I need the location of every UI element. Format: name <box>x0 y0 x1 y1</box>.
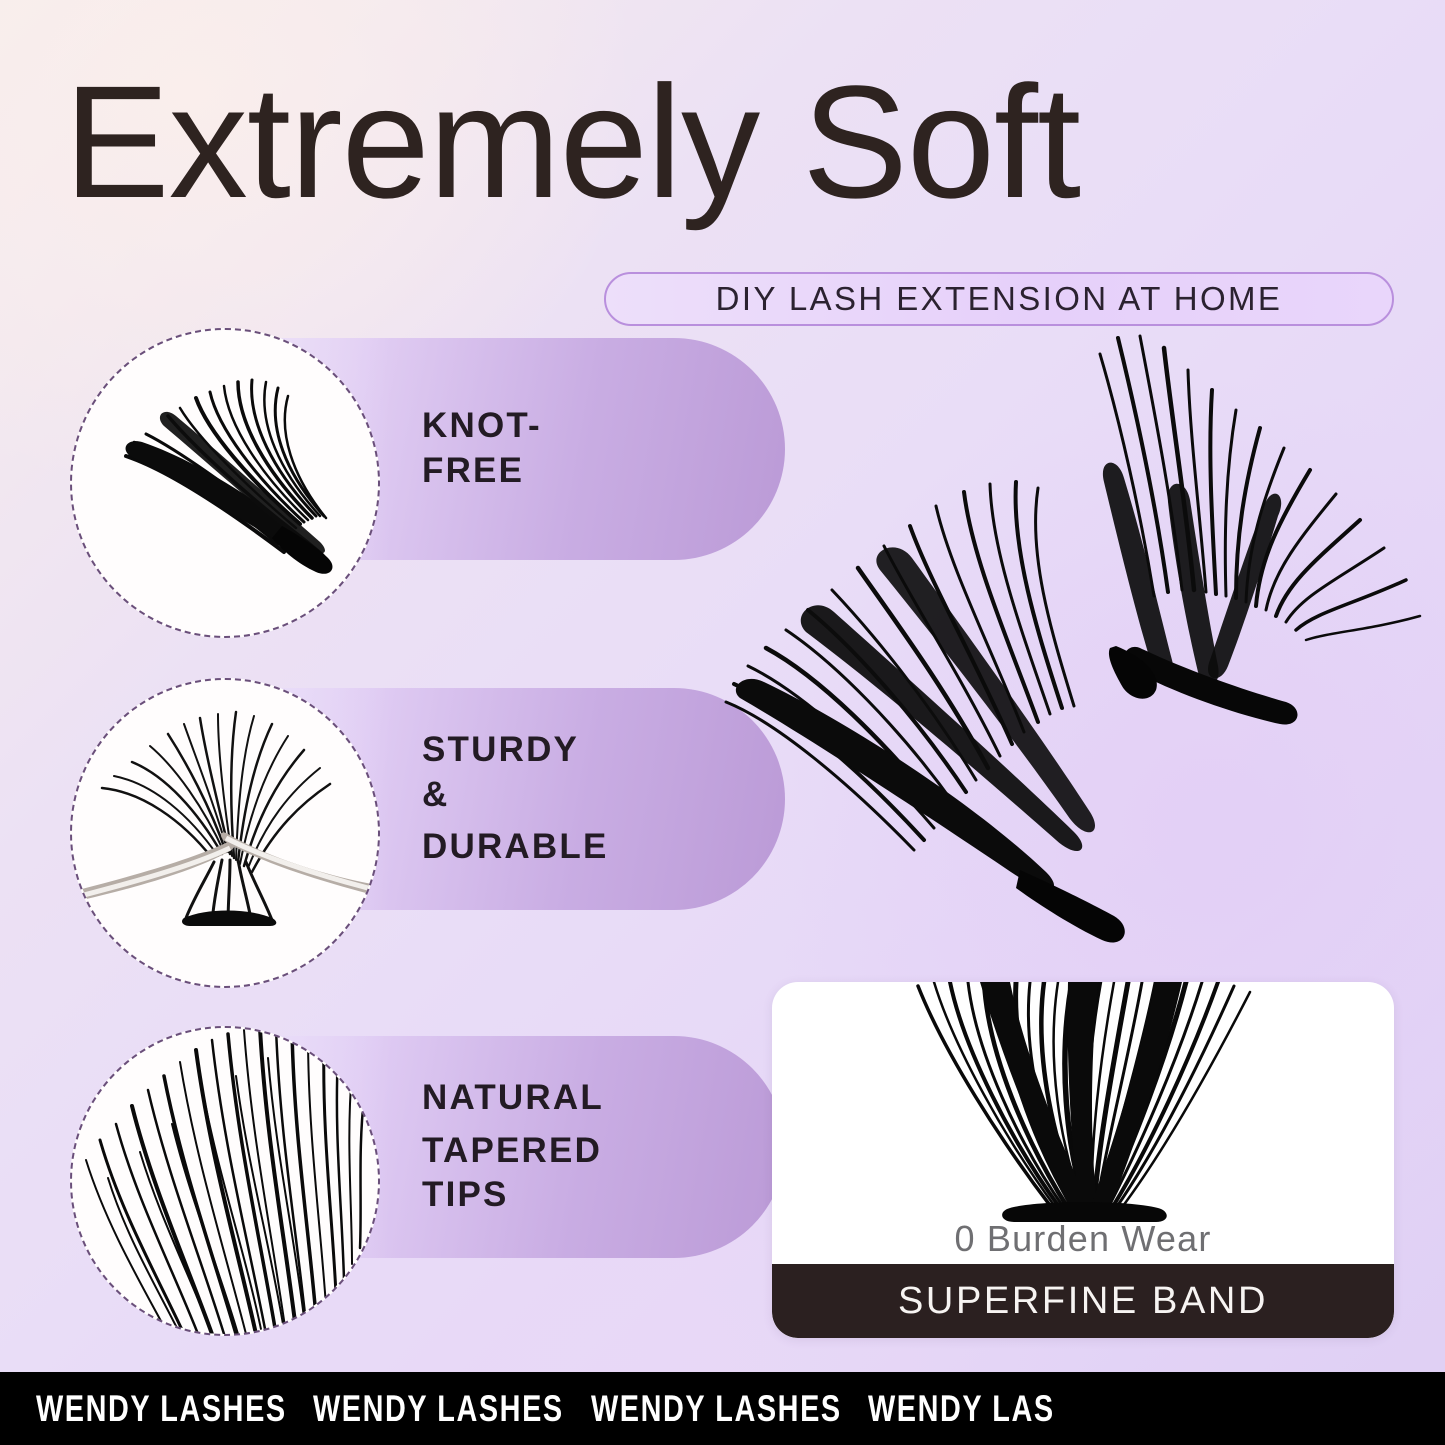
watermark-text: WENDY LASHES <box>313 1388 564 1430</box>
band-card-caption: 0 Burden Wear <box>772 1218 1394 1260</box>
feature-label-line: TAPERED TIPS <box>422 1129 604 1219</box>
lash-band-closeup-icon <box>772 982 1394 1234</box>
lash-cluster-pair-icon <box>720 330 1430 970</box>
lash-cluster-curl-icon <box>70 328 380 638</box>
watermark-footer: WENDY LASHES WENDY LASHES WENDY LASHES W… <box>0 1372 1445 1445</box>
product-infographic: Extremely Soft DIY LASH EXTENSION AT HOM… <box>0 0 1445 1445</box>
subtitle-text: DIY LASH EXTENSION AT HOME <box>716 280 1283 318</box>
feature-label-line: STURDY & <box>422 728 609 818</box>
feature-label-natural-tapered-tips: NATURAL TAPERED TIPS <box>422 1026 604 1268</box>
superfine-band-card: 0 Burden Wear SUPERFINE BAND <box>772 982 1394 1338</box>
feature-label-line: DURABLE <box>422 825 609 870</box>
watermark-text: WENDY LASHES <box>591 1388 842 1430</box>
feature-label-knot-free: KNOT-FREE <box>422 328 542 570</box>
feature-label-line: NATURAL <box>422 1076 604 1121</box>
lash-tapered-fibers-icon <box>70 1026 380 1336</box>
page-title: Extremely Soft <box>64 62 1391 222</box>
watermark-text: WENDY LAS <box>868 1388 1055 1430</box>
lash-tweezer-pull-icon <box>70 678 380 988</box>
superfine-band-label: SUPERFINE BAND <box>898 1280 1268 1323</box>
watermark-text: WENDY LASHES <box>36 1388 287 1430</box>
superfine-band-bar: SUPERFINE BAND <box>772 1264 1394 1338</box>
subtitle-badge: DIY LASH EXTENSION AT HOME <box>604 272 1394 326</box>
feature-label-line: KNOT-FREE <box>422 404 542 494</box>
feature-label-sturdy-durable: STURDY & DURABLE <box>422 678 609 920</box>
